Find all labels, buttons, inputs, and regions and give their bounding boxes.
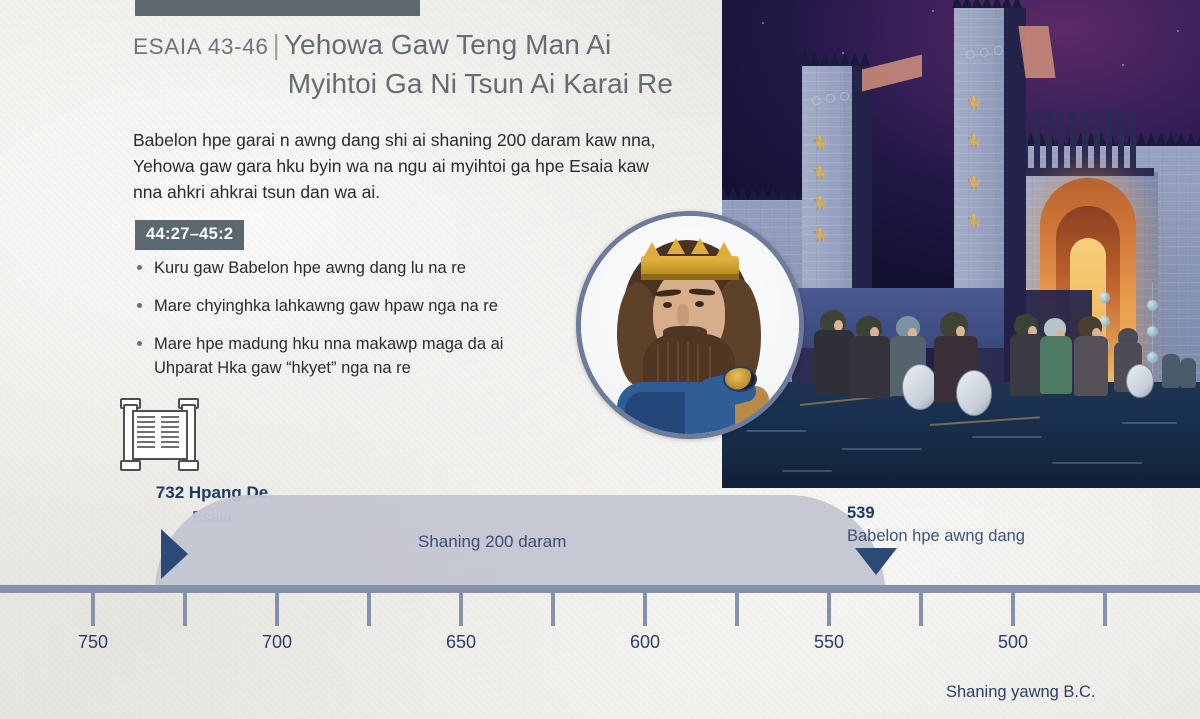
timeline-tick [91, 593, 95, 626]
bull-relief-icon: 🐈 [966, 214, 982, 227]
lion-relief-icon: 🐈 [812, 228, 828, 241]
dragon-relief-icon: 🐈 [966, 134, 982, 147]
list-item: Kuru gaw Babelon hpe awng dang lu na re [135, 256, 555, 280]
timeline-footnote: Shaning yawng B.C. [946, 683, 1096, 702]
bullet-dot-icon [137, 303, 142, 308]
dragon-relief-icon: 🐈 [812, 196, 828, 209]
timeline-tick [459, 593, 463, 626]
timeline-tick-label: 700 [262, 632, 292, 653]
timeline-tick-label: 550 [814, 632, 844, 653]
timeline-tick [183, 593, 187, 626]
bullet-dot-icon [137, 265, 142, 270]
timeline-span-label: Shaning 200 daram [418, 532, 566, 552]
timeline-tick [275, 593, 279, 626]
title-line-1: Yehowa Gaw Teng Man Ai [284, 29, 612, 60]
title-line-2: Myihtoi Ga Ni Tsun Ai Karai Re [133, 65, 673, 102]
scripture-reference: ESAIA 43-46 [133, 34, 268, 59]
timeline-tick [551, 593, 555, 626]
timeline-tick [1103, 593, 1107, 626]
list-item-text: Kuru gaw Babelon hpe awng dang lu na re [154, 259, 466, 277]
lion-relief-icon: 🐈 [966, 176, 982, 189]
title-separator: | [268, 29, 283, 60]
portrait-king-cyrus [576, 211, 804, 439]
gate-lintel [1022, 168, 1154, 176]
timeline-tick-label: 750 [78, 632, 108, 653]
scroll-icon [112, 398, 212, 476]
prophecy-bullet-list: Kuru gaw Babelon hpe awng dang lu na re … [135, 256, 555, 394]
timeline-tick [735, 593, 739, 626]
intro-paragraph: Babelon hpe garai n awng dang shi ai sha… [133, 127, 673, 205]
timeline-tick-label: 650 [446, 632, 476, 653]
verse-badge: 44:27–45:2 [135, 220, 244, 250]
list-item: Mare chyinghka lahkawng gaw hpaw nga na … [135, 294, 555, 318]
timeline-tick-label: 600 [630, 632, 660, 653]
bull-relief-icon: 🐈 [812, 166, 828, 179]
timeline-tick [827, 593, 831, 626]
timeline-marker-left-triangle-icon [161, 529, 188, 579]
bullet-dot-icon [137, 341, 142, 346]
timeline-tick [1011, 593, 1015, 626]
timeline-tick [919, 593, 923, 626]
lion-relief-icon: 🐈 [812, 136, 828, 149]
gate-vertical-slots [1022, 110, 1136, 168]
top-accent-bar [135, 0, 420, 16]
tower-left-crenellation [800, 52, 874, 66]
timeline-right-sublabel: Babelon hpe awng dang [847, 527, 1025, 546]
list-item-text: Mare chyinghka lahkawng gaw hpaw nga na … [154, 297, 498, 315]
timeline-tick-label: 500 [998, 632, 1028, 653]
timeline-tick [367, 593, 371, 626]
timeline-tick [643, 593, 647, 626]
list-item: Mare hpe madung hku nna makawp maga da a… [135, 332, 555, 380]
timeline-right-year: 539 [847, 504, 875, 523]
timeline-axis [0, 585, 1200, 593]
timeline-marker-right-triangle-icon [855, 548, 897, 575]
tower-right-crenellation [952, 0, 1024, 8]
page-title: ESAIA 43-46|Yehowa Gaw Teng Man Ai Myiht… [133, 26, 713, 102]
bull-relief-icon: 🐈 [966, 96, 982, 109]
list-item-text: Mare hpe madung hku nna makawp maga da a… [154, 335, 503, 377]
